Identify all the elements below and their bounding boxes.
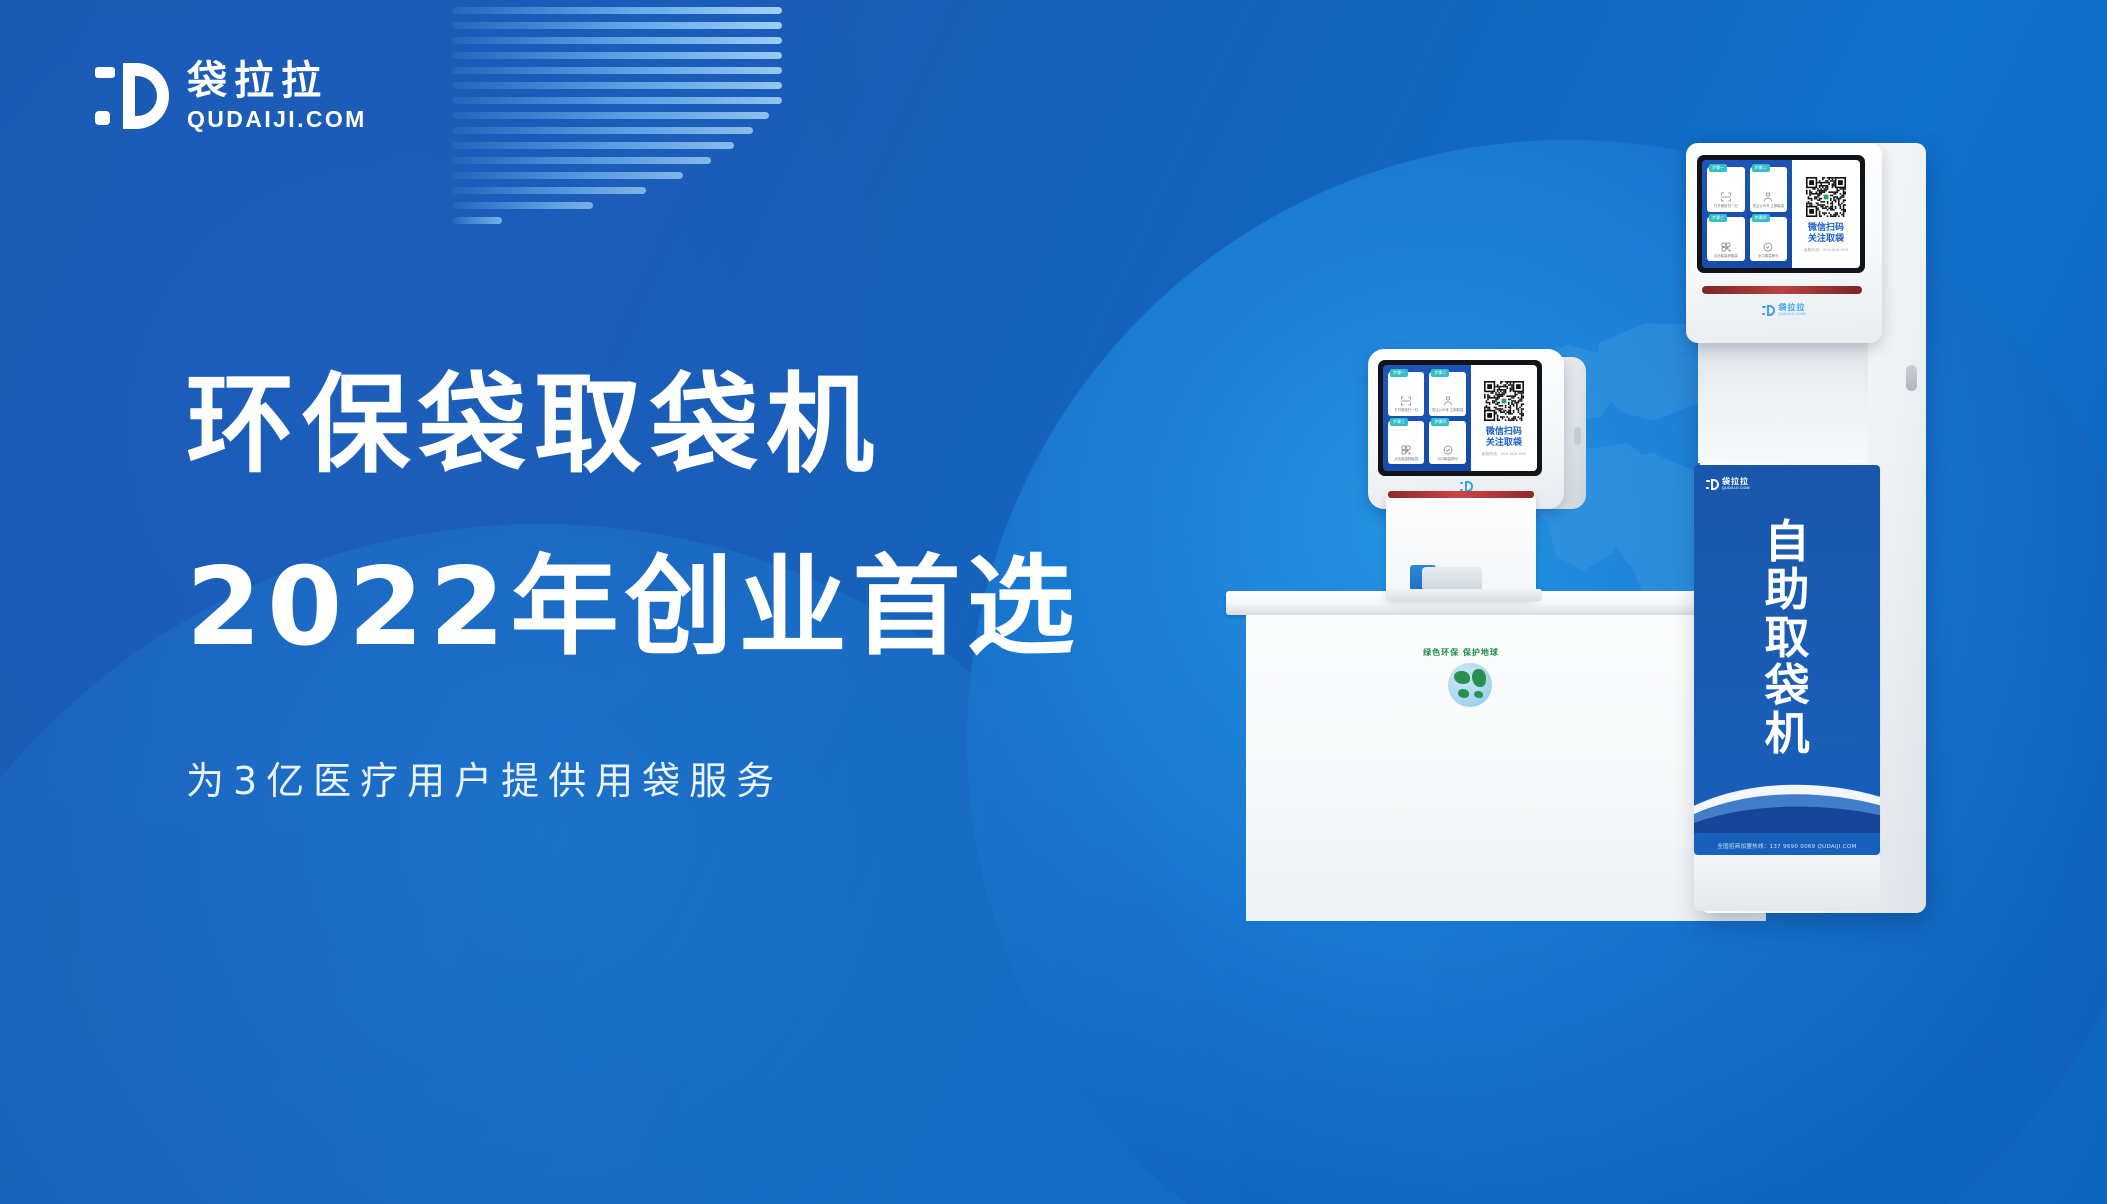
brand-name-cn: 袋拉拉 bbox=[187, 60, 367, 102]
step-tag-2: 步骤二 bbox=[1431, 369, 1449, 377]
service-hotline-label: 客服热线：400-006-999 bbox=[1482, 452, 1526, 457]
step-card-1[interactable]: 步骤一打开微信扫一扫 bbox=[1388, 372, 1424, 416]
green-earth-icon bbox=[1448, 663, 1492, 707]
step-tag-2: 步骤二 bbox=[1752, 164, 1770, 172]
step-caption-3: 点击取袋获取袋 bbox=[1392, 457, 1420, 461]
take-bag-icon bbox=[1762, 240, 1774, 252]
step-caption-4: 出口取袋即可 bbox=[1435, 457, 1459, 461]
vertical-title-char-0: 自 bbox=[1764, 519, 1809, 565]
floor-kiosk-base bbox=[1694, 855, 1880, 911]
headline-line-2: 2022年创业首选 bbox=[186, 554, 1081, 662]
floor-kiosk-dispense-slot bbox=[1702, 286, 1862, 294]
floor-kiosk-side-button[interactable] bbox=[1906, 365, 1917, 391]
promo-banner: 袋拉拉 QUDAIJI.COM 环保袋取袋机 2022年创业首选 为3亿医疗用户… bbox=[0, 0, 2107, 1204]
vertical-title-char-2: 取 bbox=[1764, 615, 1809, 661]
step-caption-1: 打开微信扫一扫 bbox=[1392, 408, 1420, 412]
desktop-bag-dispenser[interactable]: 步骤一打开微信扫一扫步骤二关注公众号 立即取袋步骤三点击取袋获取袋步骤四出口取袋… bbox=[1368, 349, 1598, 609]
floor-standing-bag-dispenser[interactable]: 步骤一打开微信扫一扫步骤二关注公众号 立即取袋步骤三点击取袋获取袋步骤四出口取袋… bbox=[1686, 143, 1936, 913]
colon-d-logo-icon bbox=[1762, 305, 1775, 316]
step-tag-4: 步骤四 bbox=[1431, 418, 1449, 426]
desktop-kiosk-side-button[interactable] bbox=[1574, 427, 1581, 445]
service-hotline-label: 客服热线：400-006-999 bbox=[1804, 248, 1848, 253]
follow-account-icon bbox=[1442, 394, 1454, 406]
headline-block: 环保袋取袋机 2022年创业首选 为3亿医疗用户提供用袋服务 bbox=[186, 372, 1081, 805]
floor-kiosk-head: 步骤一打开微信扫一扫步骤二关注公众号 立即取袋步骤三点击取袋获取袋步骤四出口取袋… bbox=[1686, 143, 1882, 343]
floor-kiosk-brand-name: 袋拉拉 bbox=[1778, 304, 1806, 312]
floor-kiosk-brand-mark: 袋拉拉 QUDAIJI.COM bbox=[1686, 303, 1882, 321]
desktop-kiosk-dispense-slot bbox=[1388, 491, 1534, 498]
wechat-scan-label: 微信扫码关注取袋 bbox=[1808, 223, 1844, 246]
brand-logo[interactable]: 袋拉拉 QUDAIJI.COM bbox=[95, 60, 367, 133]
vertical-title-char-4: 机 bbox=[1764, 711, 1809, 757]
step-tag-1: 步骤一 bbox=[1390, 369, 1408, 377]
step-caption-4: 出口取袋即可 bbox=[1756, 254, 1780, 258]
desktop-kiosk-base bbox=[1386, 589, 1542, 601]
dispensed-bag-white bbox=[1422, 567, 1482, 589]
step-card-3[interactable]: 步骤三点击取袋获取袋 bbox=[1388, 421, 1424, 465]
receive-code-icon bbox=[1400, 443, 1412, 455]
scan-qr-icon bbox=[1400, 394, 1412, 406]
floor-kiosk-brand-domain: QUDAIJI.COM bbox=[1778, 313, 1806, 317]
scan-qr-icon bbox=[1720, 190, 1732, 202]
step-card-3[interactable]: 步骤三点击取袋获取袋 bbox=[1707, 217, 1745, 262]
wechat-qr-code-icon[interactable] bbox=[1804, 175, 1848, 219]
decor-striped-arc bbox=[452, 0, 782, 236]
step-tag-4: 步骤四 bbox=[1752, 214, 1770, 222]
step-caption-3: 点击取袋获取袋 bbox=[1712, 254, 1740, 258]
desktop-kiosk-screen[interactable]: 步骤一打开微信扫一扫步骤二关注公众号 立即取袋步骤三点击取袋获取袋步骤四出口取袋… bbox=[1378, 360, 1542, 476]
floor-kiosk-vertical-title: 自助取袋机 bbox=[1694, 519, 1880, 756]
step-caption-1: 打开微信扫一扫 bbox=[1712, 204, 1740, 208]
headline-line-1: 环保袋取袋机 bbox=[186, 372, 1081, 480]
screen-qr-panel: 微信扫码关注取袋客服热线：400-006-999 bbox=[1792, 160, 1860, 268]
step-caption-2: 关注公众号 立即取袋 bbox=[1750, 204, 1786, 208]
eco-slogan-label: 绿色环保 保护地球 bbox=[1386, 647, 1536, 658]
screen-steps-panel: 步骤一打开微信扫一扫步骤二关注公众号 立即取袋步骤三点击取袋获取袋步骤四出口取袋… bbox=[1383, 365, 1471, 471]
floor-kiosk-screen[interactable]: 步骤一打开微信扫一扫步骤二关注公众号 立即取袋步骤三点击取袋获取袋步骤四出口取袋… bbox=[1697, 155, 1865, 273]
receive-code-icon bbox=[1720, 240, 1732, 252]
step-tag-3: 步骤三 bbox=[1390, 418, 1408, 426]
step-card-2[interactable]: 步骤二关注公众号 立即取袋 bbox=[1429, 372, 1465, 416]
vertical-title-char-1: 助 bbox=[1764, 567, 1809, 613]
vertical-title-char-3: 袋 bbox=[1764, 663, 1809, 709]
screen-qr-panel: 微信扫码关注取袋客服热线：400-006-999 bbox=[1471, 365, 1537, 471]
panel-brand-mark: 袋拉拉 QUDAIJI.COM bbox=[1706, 477, 1750, 495]
colon-d-logo-icon bbox=[1706, 479, 1719, 490]
floor-kiosk-pickup-alcove bbox=[1698, 343, 1868, 463]
step-card-4[interactable]: 步骤四出口取袋即可 bbox=[1750, 217, 1788, 262]
floor-kiosk-banner-panel: 袋拉拉 QUDAIJI.COM 自助取袋机 全国招商加盟热线：137 9690 … bbox=[1694, 465, 1880, 855]
step-card-4[interactable]: 步骤四出口取袋即可 bbox=[1429, 421, 1465, 465]
colon-d-logo-icon bbox=[95, 63, 169, 129]
step-caption-2: 关注公众号 立即取袋 bbox=[1430, 408, 1466, 412]
wechat-scan-label: 微信扫码关注取袋 bbox=[1486, 427, 1522, 450]
take-bag-icon bbox=[1442, 443, 1454, 455]
follow-account-icon bbox=[1762, 190, 1774, 202]
step-tag-1: 步骤一 bbox=[1709, 164, 1727, 172]
screen-steps-panel: 步骤一打开微信扫一扫步骤二关注公众号 立即取袋步骤三点击取袋获取袋步骤四出口取袋… bbox=[1702, 160, 1792, 268]
panel-brand-domain: QUDAIJI.COM bbox=[1722, 487, 1750, 491]
step-tag-3: 步骤三 bbox=[1709, 214, 1727, 222]
brand-domain: QUDAIJI.COM bbox=[187, 106, 367, 133]
wechat-qr-code-icon[interactable] bbox=[1482, 379, 1526, 423]
step-card-2[interactable]: 步骤二关注公众号 立即取袋 bbox=[1750, 167, 1788, 212]
step-card-1[interactable]: 步骤一打开微信扫一扫 bbox=[1707, 167, 1745, 212]
headline-subtitle: 为3亿医疗用户提供用袋服务 bbox=[186, 750, 1081, 805]
floor-kiosk-footer-text: 全国招商加盟热线：137 9690 0069 QUDAIJI.COM bbox=[1694, 842, 1880, 850]
decor-wave-icon bbox=[1694, 761, 1880, 833]
panel-brand-name: 袋拉拉 bbox=[1722, 478, 1750, 486]
